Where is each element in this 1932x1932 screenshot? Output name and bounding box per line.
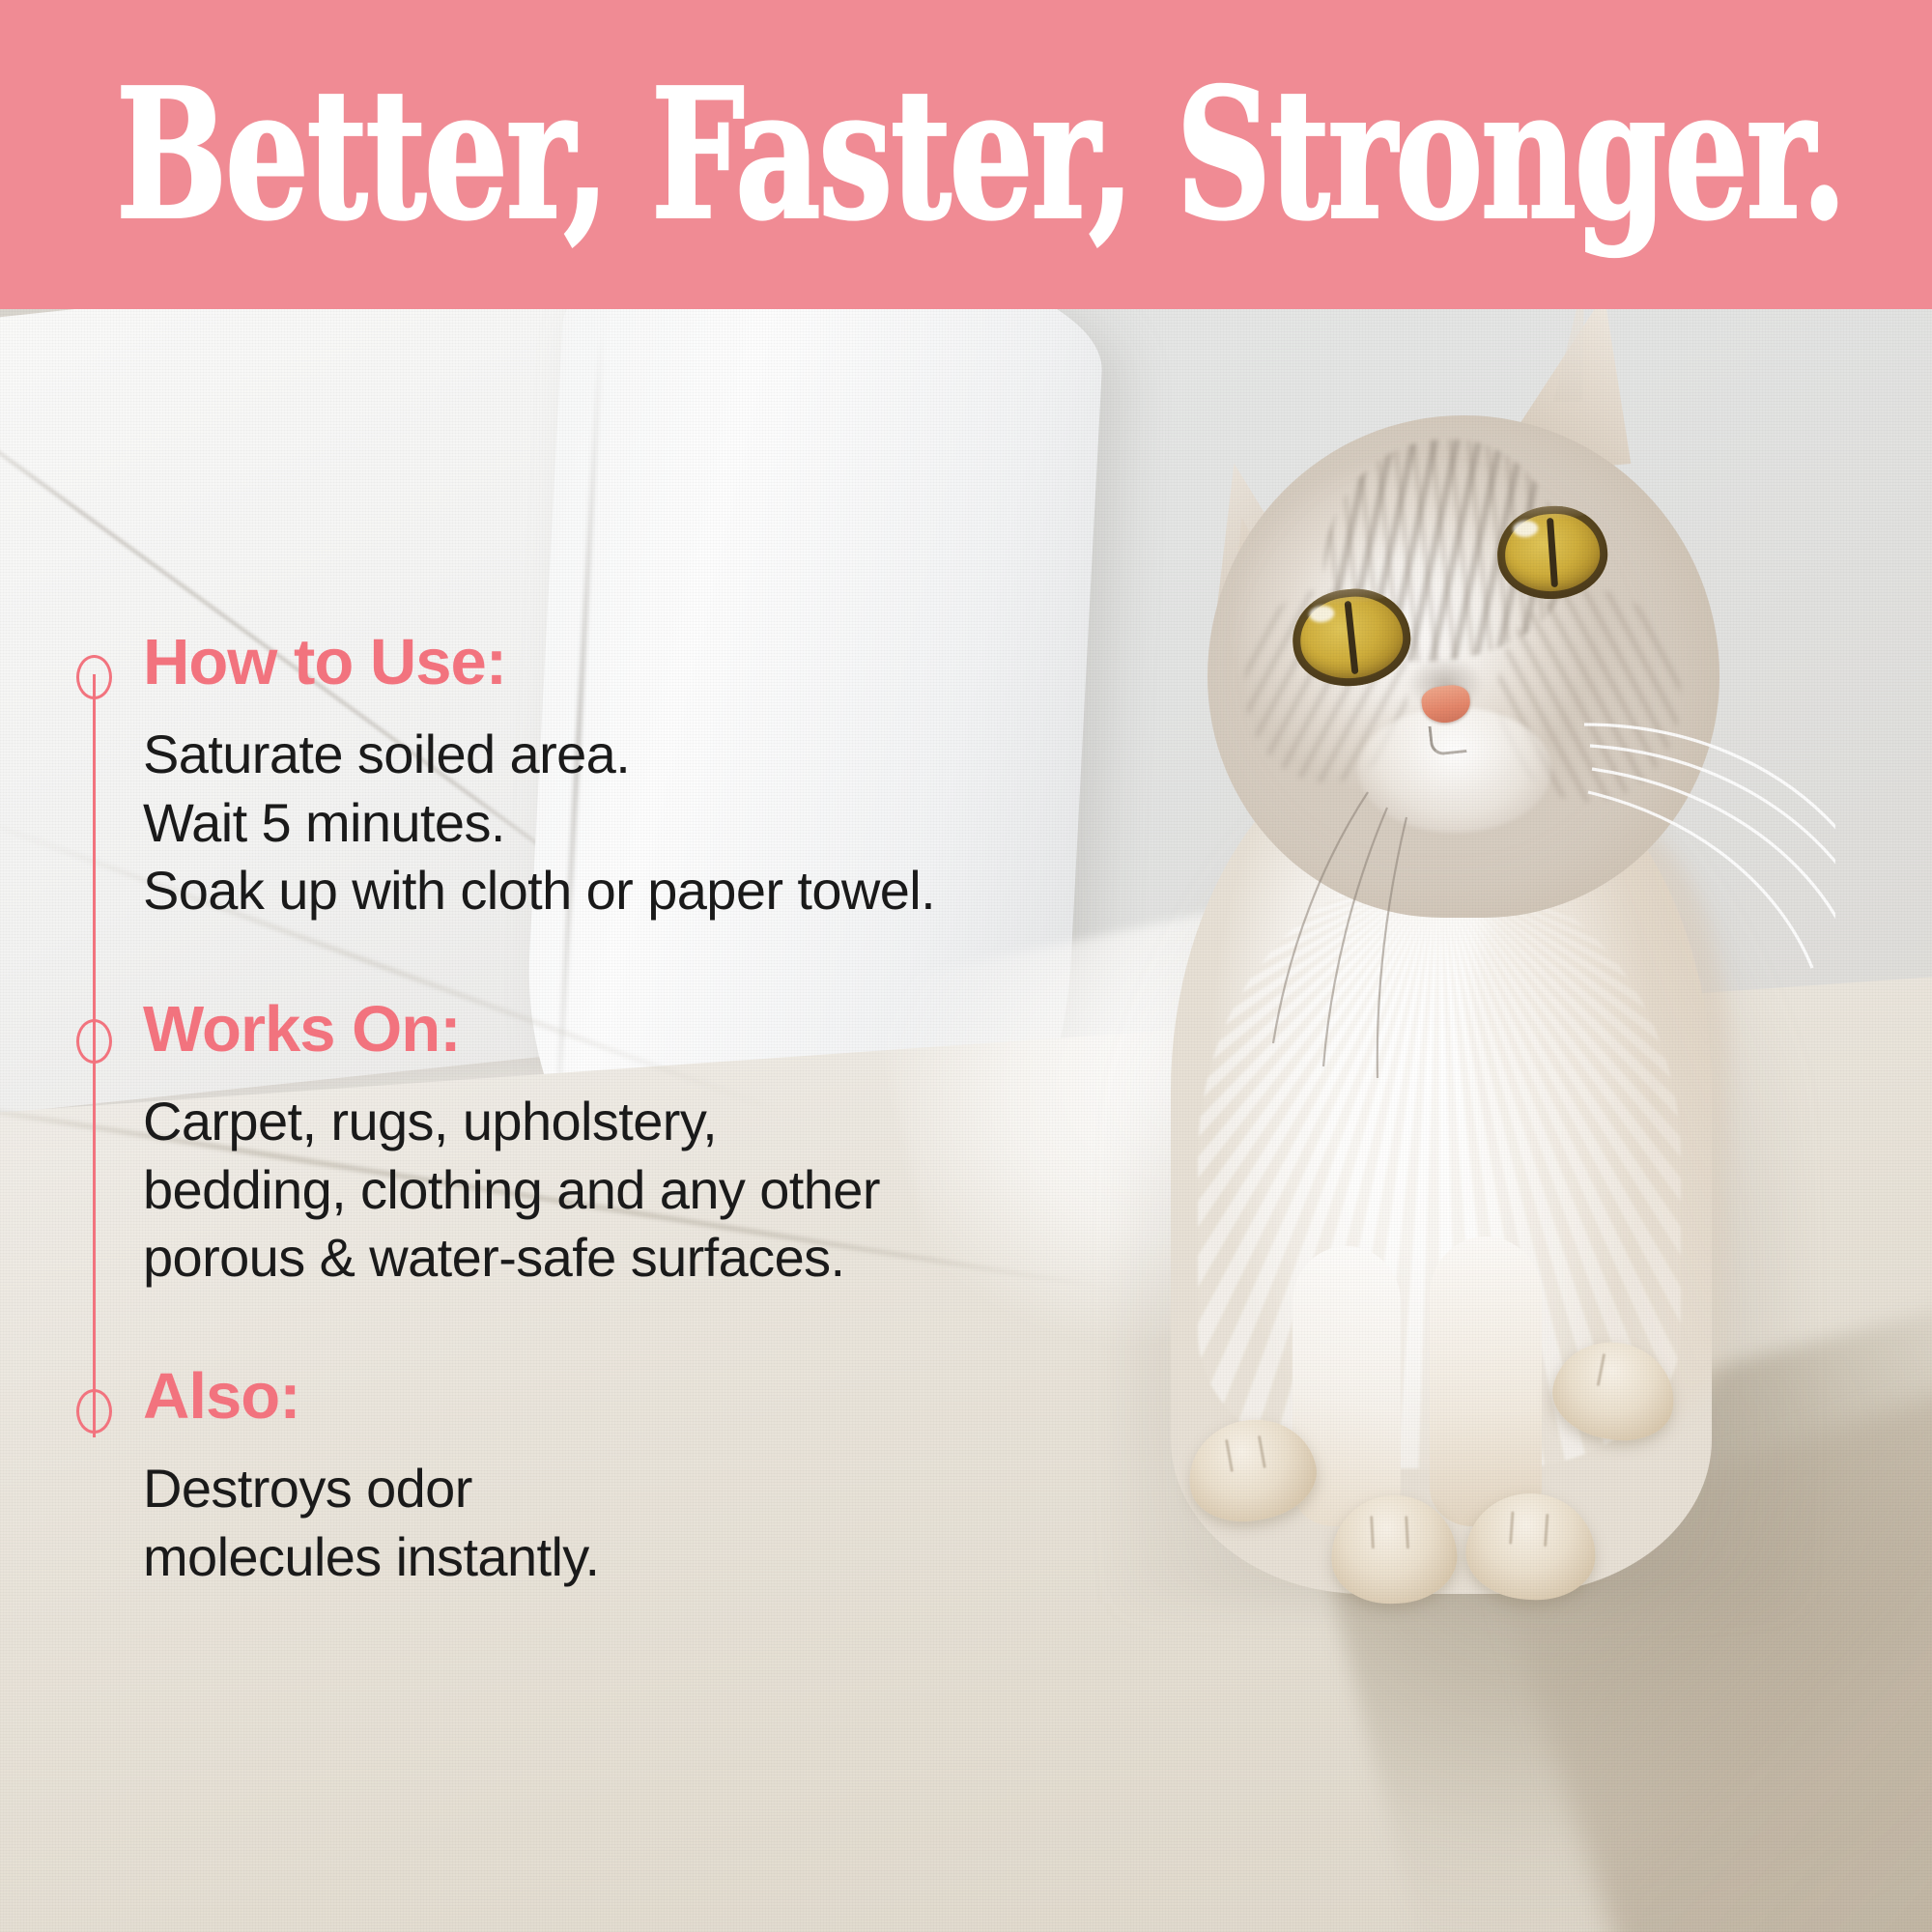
cat-front-leg-right <box>1430 1236 1542 1526</box>
body-line: bedding, clothing and any other <box>143 1156 880 1225</box>
section-heading: Works On: <box>143 997 880 1063</box>
timeline-circle-marker-icon <box>76 655 112 699</box>
section-how-to-use: How to Use: Saturate soiled area. Wait 5… <box>143 630 935 925</box>
body-line: Saturate soiled area. <box>143 721 935 789</box>
section-heading: How to Use: <box>143 630 935 696</box>
body-line: Destroys odor <box>143 1455 600 1523</box>
header-banner: Better, Faster, Stronger. <box>0 0 1932 309</box>
cat-pupil <box>1547 517 1558 587</box>
section-body: Carpet, rugs, upholstery, bedding, cloth… <box>143 1088 880 1293</box>
section-works-on: Works On: Carpet, rugs, upholstery, bedd… <box>143 997 880 1293</box>
cat-mouth <box>1428 723 1466 756</box>
body-line: molecules instantly. <box>143 1523 600 1592</box>
section-body: Saturate soiled area. Wait 5 minutes. So… <box>143 721 935 925</box>
poster-root: Better, Faster, Stronger. <box>0 0 1932 1932</box>
cat-pupil <box>1345 601 1359 674</box>
body-line: Wait 5 minutes. <box>143 789 935 858</box>
body-line: Carpet, rugs, upholstery, <box>143 1088 880 1156</box>
page-title: Better, Faster, Stronger. <box>116 66 1845 244</box>
body-line: Soak up with cloth or paper towel. <box>143 857 935 925</box>
timeline-circle-marker-icon <box>76 1389 112 1434</box>
timeline-circle-marker-icon <box>76 1019 112 1064</box>
body-line: porous & water-safe surfaces. <box>143 1224 880 1293</box>
section-heading: Also: <box>143 1364 600 1430</box>
cat-illustration <box>1082 309 1835 1719</box>
cat-eye-highlight <box>1513 520 1539 538</box>
info-panel: How to Use: Saturate soiled area. Wait 5… <box>0 309 1082 1932</box>
section-also: Also: Destroys odor molecules instantly. <box>143 1364 600 1591</box>
cat-eye-highlight <box>1308 605 1335 624</box>
section-body: Destroys odor molecules instantly. <box>143 1455 600 1591</box>
